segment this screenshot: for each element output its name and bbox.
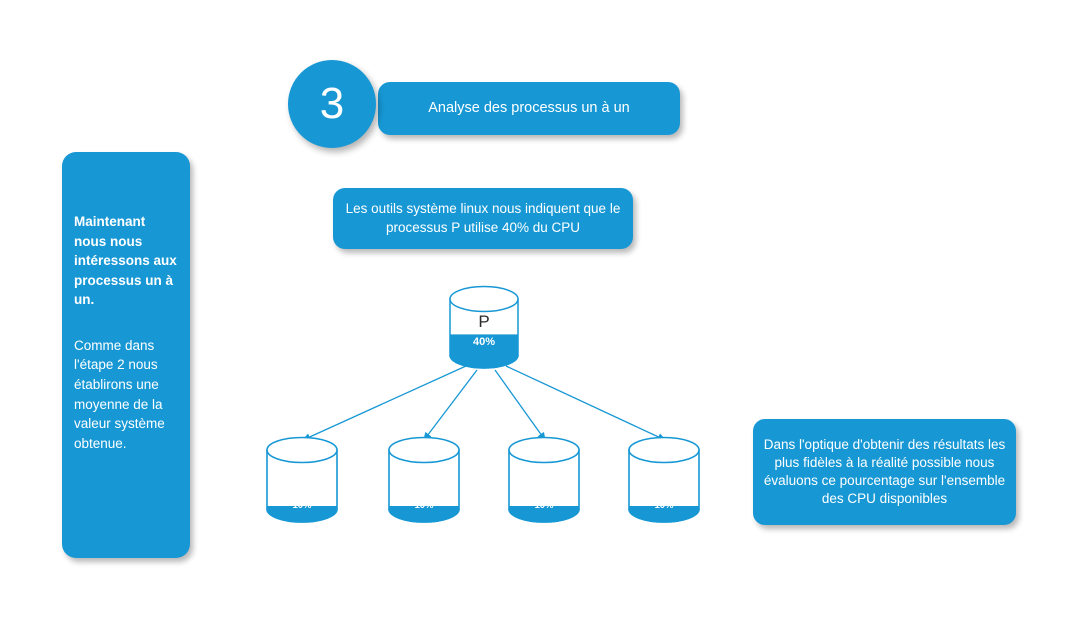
cylinder-child-4: 10% <box>629 437 699 525</box>
step-title-banner: Analyse des processus un à un <box>378 82 680 135</box>
sidebar-paragraph-bold: Maintenant nous nous intéressons aux pro… <box>74 212 178 310</box>
note-right-text: Dans l'optique d'obtenir des résultats l… <box>761 436 1008 509</box>
note-system-tools: Les outils système linux nous indiquent … <box>333 188 633 249</box>
cylinder-child-1: 10% <box>267 437 337 525</box>
note-cpu-average: Dans l'optique d'obtenir des résultats l… <box>753 419 1016 525</box>
slide-canvas: 3 Analyse des processus un à un Maintena… <box>0 0 1076 625</box>
arrow-to-cylinder-1 <box>303 366 466 440</box>
cylinder-root: P 40% <box>450 286 518 368</box>
sidebar-panel: Maintenant nous nous intéressons aux pro… <box>62 152 190 558</box>
cylinder-child-3: 10% <box>509 437 579 525</box>
sidebar-paragraph-regular: Comme dans l'étape 2 nous établirons une… <box>74 336 178 453</box>
arrow-to-cylinder-2 <box>424 370 477 440</box>
step-number-badge: 3 <box>288 60 376 148</box>
arrow-to-cylinder-3 <box>495 370 545 440</box>
note-middle-text: Les outils système linux nous indiquent … <box>343 200 623 236</box>
step-number: 3 <box>320 79 344 129</box>
arrow-to-cylinder-4 <box>506 366 665 440</box>
page-title: Analyse des processus un à un <box>428 99 630 119</box>
cylinder-child-2: 10% <box>389 437 459 525</box>
